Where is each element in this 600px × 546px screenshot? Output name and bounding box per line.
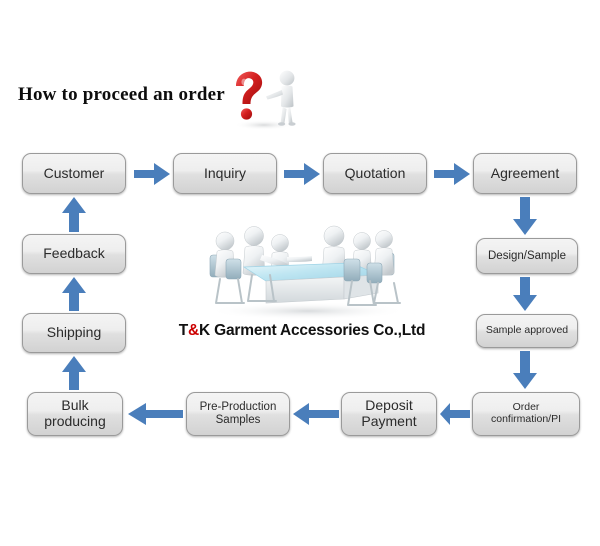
node-feedback[interactable]: Feedback [22, 234, 126, 274]
arrow-bulk-producing-to-shipping [62, 356, 86, 390]
company-name: T&K Garment Accessories Co.,Ltd [167, 322, 437, 340]
node-label-line1: Pre-Production [200, 401, 277, 414]
node-label-line1: Bulk [61, 398, 88, 414]
node-label: Shipping [47, 325, 102, 341]
question-mark-icon [224, 66, 308, 130]
node-pre-production-samples[interactable]: Pre-Production Samples [186, 392, 290, 436]
node-label: Feedback [43, 246, 104, 262]
arrow-agreement-to-design-sample [513, 197, 537, 235]
arrow-inquiry-to-quotation [284, 163, 320, 185]
node-label: Quotation [345, 166, 406, 182]
arrow-deposit-payment-to-pre-production-samples [293, 403, 339, 425]
arrow-shipping-to-feedback [62, 277, 86, 311]
node-shipping[interactable]: Shipping [22, 313, 126, 353]
node-label: Design/Sample [488, 250, 566, 263]
arrow-feedback-to-customer [62, 197, 86, 232]
arrow-customer-to-inquiry [134, 163, 170, 185]
arrow-quotation-to-agreement [434, 163, 470, 185]
company-name-suffix: K Garment Accessories Co.,Ltd [199, 322, 425, 339]
node-label-line2: Samples [216, 414, 261, 427]
company-name-ampersand: & [188, 322, 199, 339]
node-label-line2: Payment [361, 414, 416, 430]
page-title: How to proceed an order [18, 84, 225, 106]
node-label: Customer [44, 166, 105, 182]
arrow-design-sample-to-sample-approved [513, 277, 537, 311]
node-bulk-producing[interactable]: Bulk producing [27, 392, 123, 436]
node-agreement[interactable]: Agreement [473, 153, 577, 194]
node-label: Agreement [491, 166, 559, 182]
node-sample-approved[interactable]: Sample approved [476, 314, 578, 348]
arrow-sample-approved-to-order-confirmation [513, 351, 537, 389]
node-label-line2: producing [44, 414, 106, 430]
arrow-pre-production-samples-to-bulk-producing [128, 403, 183, 425]
arrow-order-confirmation-to-deposit-payment [440, 403, 470, 425]
node-design-sample[interactable]: Design/Sample [476, 238, 578, 274]
node-inquiry[interactable]: Inquiry [173, 153, 277, 194]
node-label: Inquiry [204, 166, 246, 182]
company-name-prefix: T [179, 322, 188, 339]
node-quotation[interactable]: Quotation [323, 153, 427, 194]
node-label-line2: confirmation/PI [491, 414, 561, 426]
flowchart-canvas: How to proceed an order [0, 0, 600, 546]
node-deposit-payment[interactable]: Deposit Payment [341, 392, 437, 436]
node-customer[interactable]: Customer [22, 153, 126, 194]
node-label-line1: Deposit [365, 398, 412, 414]
meeting-illustration [192, 219, 424, 319]
node-label: Sample approved [486, 325, 568, 337]
node-order-confirmation[interactable]: Order confirmation/PI [472, 392, 580, 436]
